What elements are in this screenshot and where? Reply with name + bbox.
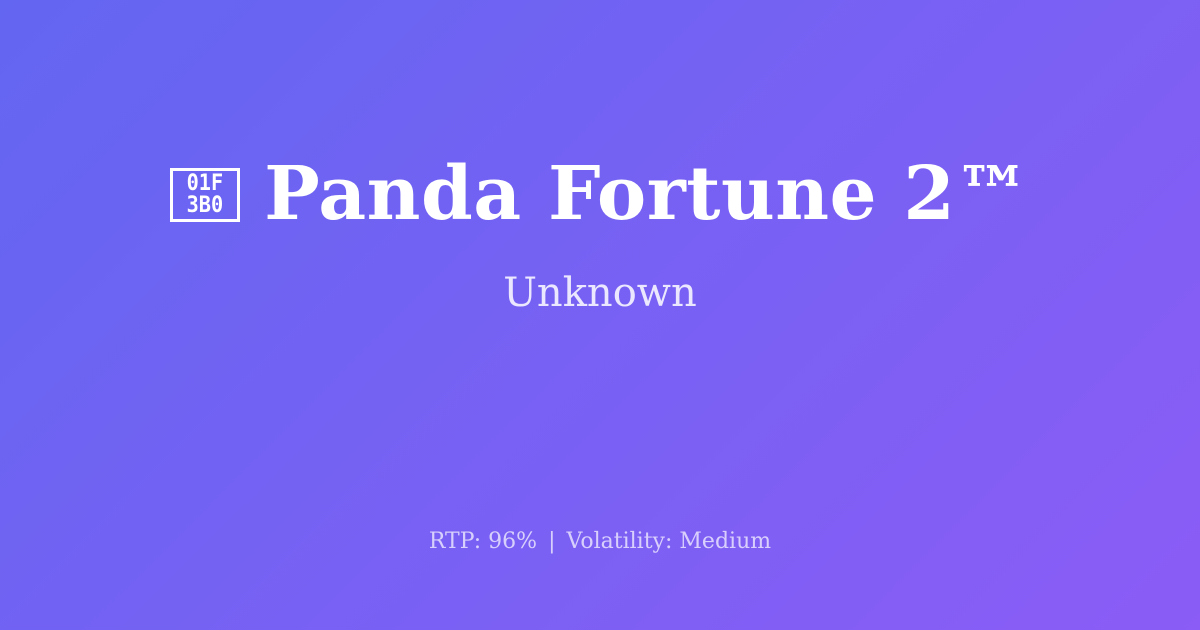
tofu-codepoint-row-top: 01F	[187, 173, 224, 195]
game-stats-footer: RTP: 96% | Volatility: Medium	[0, 528, 1200, 556]
stats-separator: |	[544, 529, 559, 554]
game-provider-subtitle: Unknown	[503, 270, 697, 316]
game-title: Panda Fortune 2™	[264, 154, 1030, 234]
tofu-codepoint-row-bottom: 3B0	[187, 195, 224, 217]
volatility-label: Volatility:	[567, 529, 673, 554]
rtp-label: RTP:	[429, 529, 481, 554]
game-preview-card: 01F 3B0 Panda Fortune 2™ Unknown RTP: 96…	[0, 0, 1200, 630]
volatility-value: Medium	[679, 529, 771, 554]
title-block: 01F 3B0 Panda Fortune 2™ Unknown	[0, 0, 1200, 470]
title-line: 01F 3B0 Panda Fortune 2™	[170, 154, 1030, 234]
rtp-value: 96%	[488, 529, 537, 554]
slot-machine-emoji-icon: 01F 3B0	[170, 168, 240, 222]
